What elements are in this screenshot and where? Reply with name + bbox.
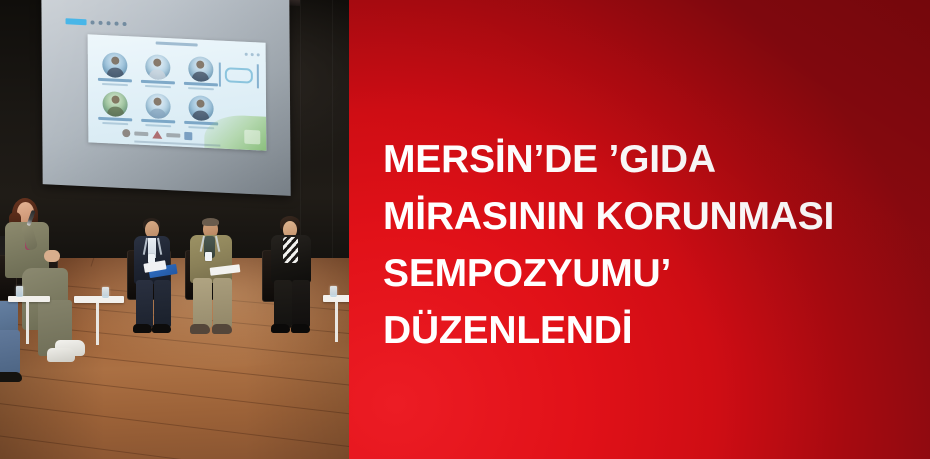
headline-panel: MERSİN’DE ’GIDA MİRASININ KORUNMASI SEMP… (349, 0, 930, 459)
slide-dots-icon (245, 53, 260, 57)
portrait-body (192, 110, 209, 121)
speaker-role (145, 124, 171, 127)
portrait-body (107, 67, 124, 78)
speaker-portrait-3 (188, 56, 213, 82)
toolbar-dot-icon (115, 21, 119, 25)
hand (44, 250, 60, 262)
speaker-cell (139, 92, 178, 131)
partner-logo-icon (184, 132, 192, 140)
event-photo (0, 0, 349, 459)
leg (193, 278, 212, 328)
slide-bracket-inner-icon (225, 67, 253, 83)
name-badge (205, 252, 212, 261)
speaker-cell (181, 55, 220, 94)
table-leg (26, 302, 29, 344)
portrait-head (111, 95, 119, 103)
side-table (8, 296, 50, 302)
slide-title (156, 42, 198, 47)
hair (202, 218, 219, 226)
toolbar-dot-icon (107, 21, 111, 25)
speaker-portrait-1 (103, 52, 128, 78)
speaker-grid (96, 51, 221, 133)
water-glass (330, 286, 337, 297)
shoe (190, 324, 210, 334)
speaker-portrait-4 (103, 91, 128, 117)
leg (274, 280, 292, 328)
shoe (271, 324, 290, 333)
shoe (0, 372, 22, 382)
portrait-head (197, 99, 205, 107)
speaker-role (103, 122, 129, 125)
leg (0, 330, 20, 374)
projection-screen (41, 0, 290, 196)
speaker-cell (96, 90, 135, 129)
shoe (133, 324, 152, 333)
portrait-head (154, 97, 162, 105)
toolbar-chip-icon (66, 18, 87, 25)
portrait-head (154, 58, 162, 66)
portrait-body (150, 108, 167, 119)
leg (154, 280, 171, 328)
toolbar-dot-icon (123, 21, 127, 25)
speaker-portrait-6 (188, 95, 213, 121)
news-card: MERSİN’DE ’GIDA MİRASININ KORUNMASI SEMP… (0, 0, 930, 459)
slide-bracket-icon (219, 62, 259, 88)
portrait-body (192, 71, 209, 82)
table-leg (335, 302, 338, 342)
wall-seam (300, 0, 301, 262)
speaker-cell (96, 51, 135, 90)
partner-logo-icon (122, 129, 130, 137)
partner-logo-icon (134, 132, 148, 137)
portrait-head (111, 56, 119, 64)
shoe (152, 324, 171, 333)
speaker-portrait-2 (145, 54, 170, 80)
partner-logo-icon (152, 130, 162, 138)
partner-logo-icon (166, 133, 180, 138)
toolbar-dot-icon (91, 20, 95, 24)
shoe (212, 324, 232, 334)
portrait-body (149, 69, 166, 80)
speaker-portrait-5 (145, 93, 170, 119)
leg (136, 280, 153, 328)
speaker-cell (138, 53, 177, 92)
side-table (74, 296, 124, 303)
speaker-role (102, 82, 128, 85)
wall-seam (332, 0, 333, 262)
table-leg (96, 303, 99, 345)
headline-text: MERSİN’DE ’GIDA MİRASININ KORUNMASI SEMP… (383, 131, 903, 359)
water-glass (16, 286, 23, 297)
shoe (47, 348, 75, 362)
blouse (283, 237, 298, 263)
leg (213, 278, 232, 328)
leg (292, 280, 310, 328)
speaker-role (145, 85, 171, 88)
slide-badge (244, 130, 260, 145)
speaker-role (188, 87, 214, 90)
shoe (291, 324, 310, 333)
presentation-toolbar (66, 17, 184, 30)
portrait-body (107, 106, 124, 117)
presentation-slide (88, 34, 267, 150)
water-glass (102, 287, 109, 298)
toolbar-dot-icon (99, 20, 103, 24)
portrait-head (196, 60, 204, 68)
